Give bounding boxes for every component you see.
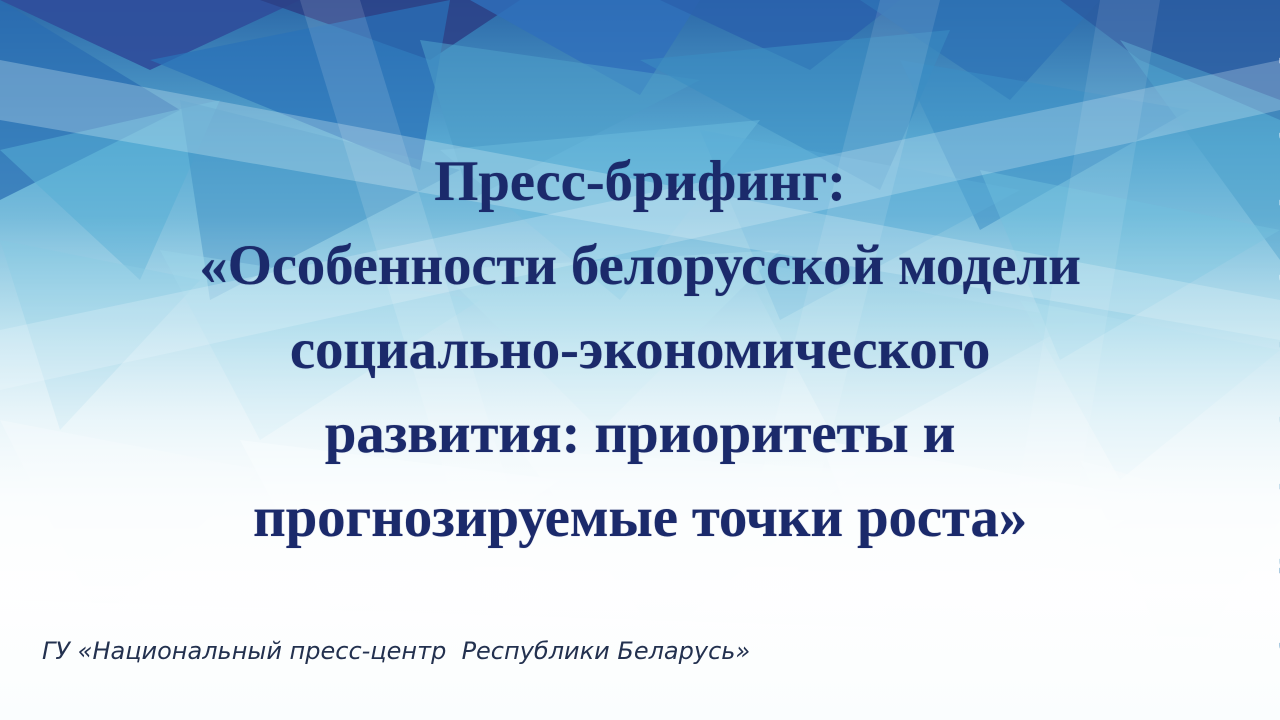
slide-title: Пресс-брифинг: «Особенности белорусской … [0, 140, 1280, 560]
presentation-slide: Пресс-брифинг: «Особенности белорусской … [0, 0, 1280, 720]
title-line-5: прогнозируемые точки роста» [0, 476, 1280, 560]
title-line-2: «Особенности белорусской модели [0, 224, 1280, 308]
slide-footer: ГУ «Национальный пресс-центр Республики … [42, 636, 750, 666]
title-line-3: социально-экономического [0, 308, 1280, 392]
organisation-name: ГУ «Национальный пресс-центр Республики … [42, 637, 750, 665]
title-line-4: развития: приоритеты и [0, 392, 1280, 476]
title-line-1: Пресс-брифинг: [0, 140, 1280, 224]
